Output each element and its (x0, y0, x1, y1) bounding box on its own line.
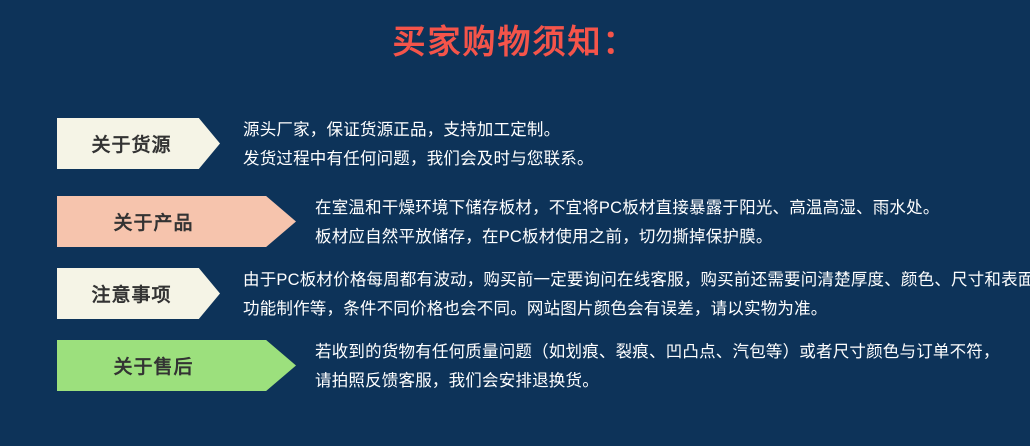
section-body-attention: 由于PC板材价格每周都有波动，购买前一定要询问在线客服，购买前还需要问清楚厚度、… (243, 266, 1030, 324)
notice-section-product: 关于产品 在室温和干燥环境下储存板材，不宜将PC板材直接暴露于阳光、高温高湿、雨… (0, 196, 1030, 252)
section-body-product: 在室温和干燥环境下储存板材，不宜将PC板材直接暴露于阳光、高温高湿、雨水处。 板… (315, 194, 940, 252)
section-label-sourcing: 关于货源 (57, 118, 220, 169)
buyer-notice-banner: 买家购物须知： 关于货源 源头厂家，保证货源正品，支持加工定制。 发货过程中有任… (0, 0, 1030, 446)
body-line: 请拍照反馈客服，我们会安排退换货。 (315, 367, 1000, 396)
section-label-aftersales: 关于售后 (57, 340, 296, 391)
body-line: 在室温和干燥环境下储存板材，不宜将PC板材直接暴露于阳光、高温高湿、雨水处。 (315, 194, 940, 223)
notice-section-aftersales: 关于售后 若收到的货物有任何质量问题（如划痕、裂痕、凹凸点、汽包等）或者尺寸颜色… (0, 340, 1030, 396)
section-label-product: 关于产品 (57, 196, 296, 247)
section-body-aftersales: 若收到的货物有任何质量问题（如划痕、裂痕、凹凸点、汽包等）或者尺寸颜色与订单不符… (315, 338, 1000, 396)
body-line: 板材应自然平放储存，在PC板材使用之前，切勿撕掉保护膜。 (315, 223, 940, 252)
section-body-sourcing: 源头厂家，保证货源正品，支持加工定制。 发货过程中有任何问题，我们会及时与您联系… (243, 116, 594, 174)
body-line: 源头厂家，保证货源正品，支持加工定制。 (243, 116, 594, 145)
body-line: 发货过程中有任何问题，我们会及时与您联系。 (243, 145, 594, 174)
page-title: 买家购物须知： (0, 22, 1030, 62)
body-line: 由于PC板材价格每周都有波动，购买前一定要询问在线客服，购买前还需要问清楚厚度、… (243, 266, 1030, 295)
body-line: 功能制作等，条件不同价格也会不同。网站图片颜色会有误差，请以实物为准。 (243, 295, 1030, 324)
section-label-attention: 注意事项 (57, 268, 220, 319)
notice-section-sourcing: 关于货源 源头厂家，保证货源正品，支持加工定制。 发货过程中有任何问题，我们会及… (0, 118, 1030, 174)
notice-section-attention: 注意事项 由于PC板材价格每周都有波动，购买前一定要询问在线客服，购买前还需要问… (0, 268, 1030, 324)
body-line: 若收到的货物有任何质量问题（如划痕、裂痕、凹凸点、汽包等）或者尺寸颜色与订单不符… (315, 338, 1000, 367)
